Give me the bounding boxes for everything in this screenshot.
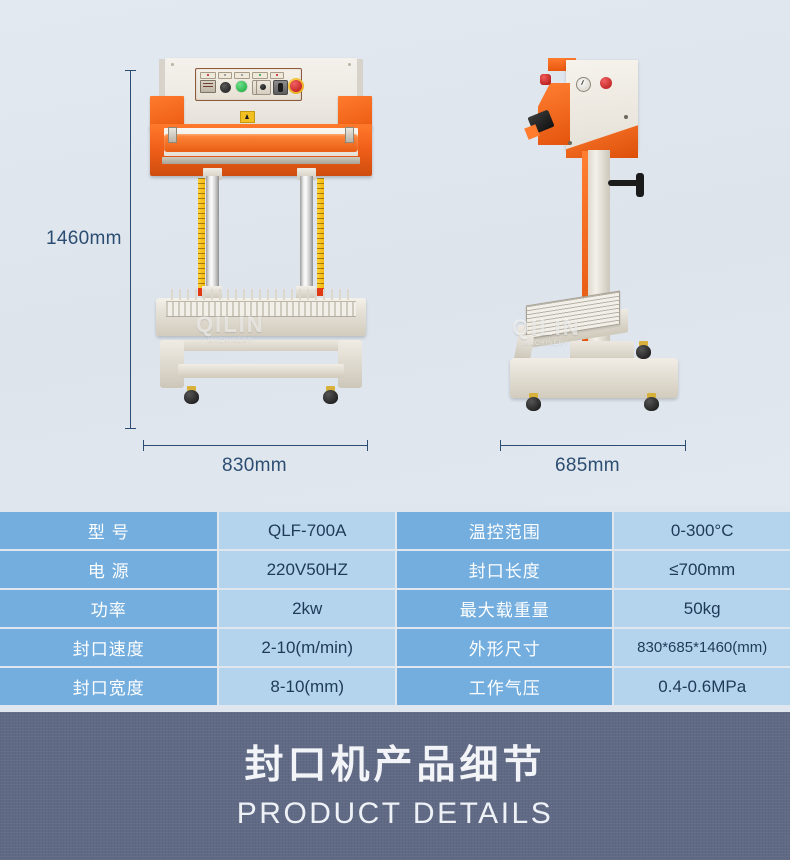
side-red-button[interactable] bbox=[600, 77, 612, 89]
spec-key: 温控范围 bbox=[397, 512, 612, 549]
caster-wheel-right bbox=[323, 386, 338, 404]
spec-value: ≤700mm bbox=[614, 551, 790, 588]
spec-value: 0.4-0.6MPa bbox=[614, 668, 790, 705]
product-details-banner: 封口机产品细节 PRODUCT DETAILS bbox=[0, 712, 790, 860]
pressure-gauge bbox=[576, 77, 591, 92]
banner-title-cn: 封口机产品细节 bbox=[0, 712, 790, 785]
specification-table: 型 号 QLF-700A 温控范围 0-300°C 电 源 220V50HZ 封… bbox=[0, 512, 790, 707]
height-crank-handle[interactable] bbox=[608, 173, 650, 197]
housing-screw bbox=[348, 63, 351, 66]
spec-value: 2kw bbox=[219, 590, 395, 627]
warning-label-icon bbox=[240, 111, 255, 123]
spec-key: 工作气压 bbox=[397, 668, 612, 705]
height-dimension-line bbox=[130, 70, 131, 428]
spec-key: 最大载重量 bbox=[397, 590, 612, 627]
table-row: 型 号 QLF-700A 温控范围 0-300°C bbox=[0, 512, 790, 549]
caster-wheel-left bbox=[184, 386, 199, 404]
chrome-post-right bbox=[300, 176, 313, 294]
spec-key: 封口长度 bbox=[397, 551, 612, 588]
spec-key: 电 源 bbox=[0, 551, 217, 588]
side-red-knob[interactable] bbox=[540, 74, 551, 85]
spec-key: 封口宽度 bbox=[0, 668, 217, 705]
jaw-clip-left bbox=[168, 127, 177, 143]
height-dim-cap-bottom bbox=[125, 428, 136, 429]
height-dimension-label: 1460mm bbox=[46, 228, 122, 250]
spec-key: 封口速度 bbox=[0, 629, 217, 666]
front-width-cap-right bbox=[367, 440, 368, 451]
base-cross-bar bbox=[178, 364, 344, 378]
selector-knob-2[interactable] bbox=[256, 80, 271, 95]
temperature-display bbox=[200, 80, 216, 93]
front-width-label: 830mm bbox=[222, 455, 287, 477]
panel-tag-2 bbox=[218, 72, 232, 79]
spec-value: 0-300°C bbox=[614, 512, 790, 549]
banner-content: 封口机产品细节 PRODUCT DETAILS bbox=[0, 712, 790, 829]
side-width-dimension-line bbox=[500, 445, 685, 446]
panel-tag-3 bbox=[234, 72, 250, 79]
spec-value: QLF-700A bbox=[219, 512, 395, 549]
emergency-stop-button[interactable] bbox=[288, 78, 304, 94]
housing-screw bbox=[624, 115, 628, 119]
table-row: 电 源 220V50HZ 封口长度 ≤700mm bbox=[0, 551, 790, 588]
side-base-frame bbox=[510, 358, 678, 398]
conveyor-table bbox=[156, 298, 366, 336]
table-row: 封口速度 2-10(m/min) 外形尺寸 830*685*1460(mm) bbox=[0, 629, 790, 666]
mode-selector-switch[interactable] bbox=[273, 80, 288, 95]
spec-value: 50kg bbox=[614, 590, 790, 627]
conveyor-fins bbox=[168, 289, 354, 300]
spec-value: 2-10(m/min) bbox=[219, 629, 395, 666]
spec-key: 型 号 bbox=[0, 512, 217, 549]
side-caster-right bbox=[644, 393, 659, 411]
jaw-lower-lip bbox=[162, 157, 360, 164]
housing-pivot-screw bbox=[568, 141, 572, 145]
chrome-post-left bbox=[206, 176, 219, 294]
spec-value: 830*685*1460(mm) bbox=[614, 629, 790, 666]
housing-screw bbox=[171, 63, 174, 66]
panel-tag-1 bbox=[200, 72, 216, 79]
machine-base-frame bbox=[160, 340, 362, 392]
base-top-rail bbox=[166, 340, 356, 351]
front-width-dimension-line bbox=[143, 445, 367, 446]
conveyor-rollers bbox=[166, 301, 356, 317]
banner-title-en: PRODUCT DETAILS bbox=[0, 785, 790, 829]
product-spec-page: 1460mm bbox=[0, 0, 790, 860]
side-width-label: 685mm bbox=[555, 455, 620, 477]
sealing-bar bbox=[164, 134, 358, 152]
machine-side-view bbox=[508, 55, 683, 447]
machine-front-view bbox=[150, 58, 372, 446]
spec-key: 功率 bbox=[0, 590, 217, 627]
spec-value: 220V50HZ bbox=[219, 551, 395, 588]
start-button-green[interactable] bbox=[236, 81, 247, 92]
panel-tag-4 bbox=[252, 72, 268, 79]
measuring-tape-right bbox=[317, 178, 324, 296]
panel-tag-5 bbox=[270, 72, 284, 79]
side-caster-mid bbox=[636, 341, 651, 359]
measuring-tape-left bbox=[198, 178, 205, 296]
table-row: 功率 2kw 最大载重量 50kg bbox=[0, 590, 790, 627]
spec-value: 8-10(mm) bbox=[219, 668, 395, 705]
side-caster-left bbox=[526, 393, 541, 411]
spec-key: 外形尺寸 bbox=[397, 629, 612, 666]
jaw-clip-right bbox=[345, 127, 354, 143]
control-panel[interactable] bbox=[195, 68, 302, 101]
side-width-cap-right bbox=[685, 440, 686, 451]
sealing-jaw-assembly bbox=[150, 124, 372, 176]
product-photo-area: 1460mm bbox=[0, 0, 790, 505]
table-row: 封口宽度 8-10(mm) 工作气压 0.4-0.6MPa bbox=[0, 668, 790, 705]
speed-knob[interactable] bbox=[220, 82, 231, 93]
